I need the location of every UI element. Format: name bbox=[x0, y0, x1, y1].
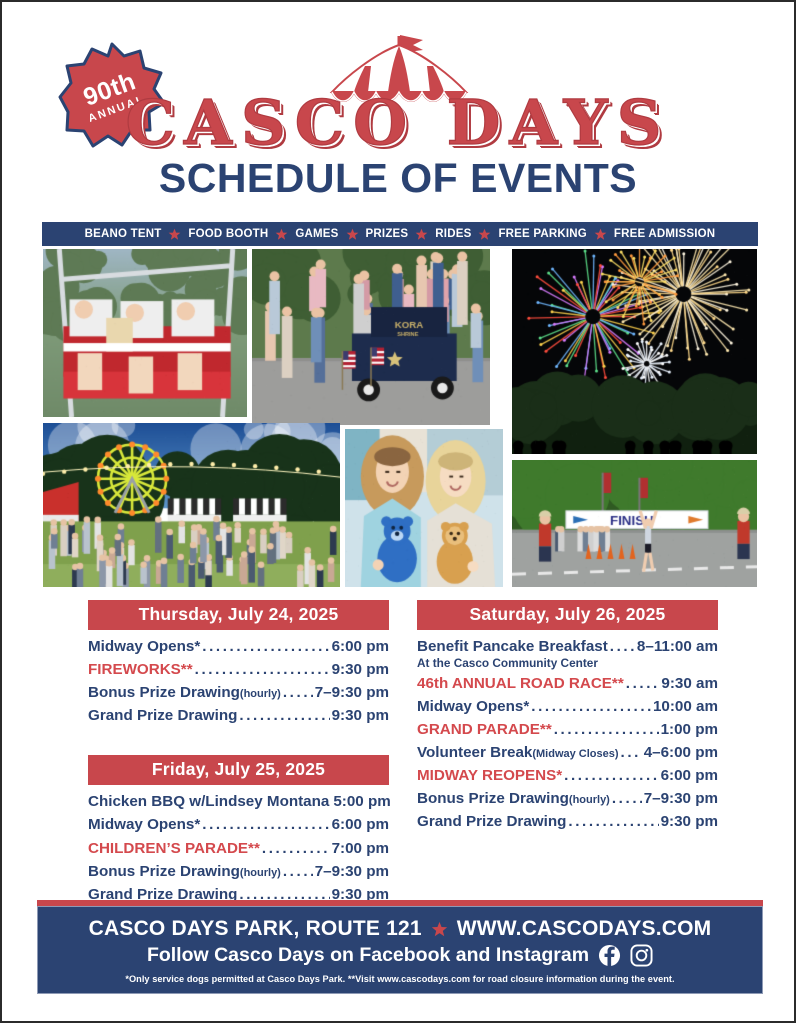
star-icon bbox=[168, 228, 181, 241]
event-name: 46th ANNUAL ROAD RACE** bbox=[417, 672, 624, 695]
photo-collage bbox=[43, 249, 757, 587]
event-name: Grand Prize Drawing bbox=[417, 810, 566, 833]
schedule-column-left: Thursday, July 24, 2025 Midway Opens* ..… bbox=[88, 600, 389, 906]
feature-rides: RIDES bbox=[435, 228, 471, 240]
event-row: Volunteer Break (Midway Closes) ........… bbox=[417, 741, 718, 764]
feature-games: GAMES bbox=[295, 228, 338, 240]
leader-dots: ........................................… bbox=[568, 810, 658, 833]
event-time: 6:00 pm bbox=[332, 635, 389, 658]
instagram-icon[interactable] bbox=[630, 944, 653, 967]
title-block: CASCO DAYS SCHEDULE OF EVENTS bbox=[2, 94, 794, 202]
footer-location: CASCO DAYS PARK, ROUTE 121 bbox=[89, 917, 422, 941]
event-name: Bonus Prize Drawing bbox=[88, 860, 240, 883]
leader-dots: ........................................… bbox=[202, 635, 329, 658]
event-time: 10:00 am bbox=[653, 695, 718, 718]
event-list-friday: Chicken BBQ w/Lindsey Montana ..........… bbox=[88, 790, 389, 905]
event-time: 9:30 am bbox=[661, 672, 718, 695]
event-name: GRAND PARADE** bbox=[417, 718, 552, 741]
footer-footnote: *Only service dogs permitted at Casco Da… bbox=[38, 974, 762, 984]
feature-free-admission: FREE ADMISSION bbox=[614, 228, 715, 240]
feature-free-parking: FREE PARKING bbox=[498, 228, 586, 240]
event-row: Chicken BBQ w/Lindsey Montana ..........… bbox=[88, 790, 389, 813]
event-time: 9:30 pm bbox=[661, 810, 718, 833]
leader-dots: ........................................… bbox=[195, 658, 330, 681]
event-name: Chicken BBQ w/Lindsey Montana bbox=[88, 790, 329, 813]
day-block-saturday: Saturday, July 26, 2025 Benefit Pancake … bbox=[417, 600, 718, 833]
event-name: CHILDREN’S PARADE** bbox=[88, 837, 260, 860]
event-time: 7–9:30 pm bbox=[644, 787, 718, 810]
photo-swing-ride-family bbox=[43, 249, 247, 417]
leader-dots: ........................................… bbox=[262, 837, 330, 860]
event-note: (hourly) bbox=[240, 865, 281, 882]
event-name: FIREWORKS** bbox=[88, 658, 193, 681]
footer-location-line: CASCO DAYS PARK, ROUTE 121 WWW.CASCODAYS… bbox=[38, 917, 762, 941]
event-row: Midway Opens* ..........................… bbox=[88, 635, 389, 658]
facebook-icon[interactable] bbox=[598, 944, 621, 967]
event-note: (Midway Closes) bbox=[532, 746, 618, 763]
photo-parade-kora-car bbox=[252, 249, 490, 425]
leader-dots: ........................................… bbox=[531, 695, 651, 718]
event-row: 46th ANNUAL ROAD RACE** ................… bbox=[417, 672, 718, 695]
day-block-friday: Friday, July 25, 2025 Chicken BBQ w/Lind… bbox=[88, 755, 389, 905]
feature-strip: BEANO TENTFOOD BOOTHGAMESPRIZESRIDESFREE… bbox=[42, 222, 758, 246]
photo-prize-stuffed-animals bbox=[345, 429, 503, 587]
poster-header: 90th ANNUAL CASCO DAYS SCHEDULE OF EVENT… bbox=[2, 2, 794, 214]
poster-title: CASCO DAYS bbox=[126, 94, 671, 153]
day-header-friday: Friday, July 25, 2025 bbox=[88, 755, 389, 785]
event-row: Midway Opens* ..........................… bbox=[88, 813, 389, 836]
event-row: Benefit Pancake Breakfast ..............… bbox=[417, 635, 718, 658]
photo-road-race-finish bbox=[512, 460, 757, 587]
leader-dots: ........................................… bbox=[239, 704, 329, 727]
schedule-section: Thursday, July 24, 2025 Midway Opens* ..… bbox=[88, 600, 718, 906]
feature-prizes: PRIZES bbox=[366, 228, 409, 240]
event-note: (hourly) bbox=[240, 686, 281, 703]
event-row: MIDWAY REOPENS* ........................… bbox=[417, 764, 718, 787]
event-time: 4–6:00 pm bbox=[644, 741, 718, 764]
star-icon bbox=[346, 228, 359, 241]
poster-subtitle: SCHEDULE OF EVENTS bbox=[2, 155, 794, 202]
footer-website[interactable]: WWW.CASCODAYS.COM bbox=[457, 917, 712, 941]
event-row: Bonus Prize Drawing (hourly) ...........… bbox=[88, 860, 389, 883]
schedule-column-right: Saturday, July 26, 2025 Benefit Pancake … bbox=[417, 600, 718, 906]
star-icon bbox=[594, 228, 607, 241]
event-time: 7:00 pm bbox=[332, 837, 389, 860]
event-row: Bonus Prize Drawing (hourly) ...........… bbox=[88, 681, 389, 704]
event-time: 9:30 pm bbox=[332, 658, 389, 681]
event-row: Bonus Prize Drawing (hourly) ...........… bbox=[417, 787, 718, 810]
leader-dots: ........................................… bbox=[610, 635, 635, 658]
event-time: 5:00 pm bbox=[333, 790, 390, 813]
event-row: FIREWORKS** ............................… bbox=[88, 658, 389, 681]
event-time: 7–9:30 pm bbox=[315, 681, 389, 704]
leader-dots: ........................................… bbox=[202, 813, 329, 836]
event-time: 8–11:00 am bbox=[637, 635, 718, 658]
event-subline: At the Casco Community Center bbox=[417, 656, 718, 671]
event-row: Grand Prize Drawing ....................… bbox=[88, 704, 389, 727]
event-name: Grand Prize Drawing bbox=[88, 704, 237, 727]
event-row: Midway Opens* ..........................… bbox=[417, 695, 718, 718]
event-name: Benefit Pancake Breakfast bbox=[417, 635, 608, 658]
star-icon bbox=[415, 228, 428, 241]
day-header-thursday: Thursday, July 24, 2025 bbox=[88, 600, 389, 630]
event-row: CHILDREN’S PARADE** ....................… bbox=[88, 837, 389, 860]
event-row: Grand Prize Drawing ....................… bbox=[417, 810, 718, 833]
event-time: 9:30 pm bbox=[332, 704, 389, 727]
event-list-thursday: Midway Opens* ..........................… bbox=[88, 635, 389, 727]
star-icon bbox=[275, 228, 288, 241]
event-name: Midway Opens* bbox=[88, 635, 200, 658]
poster-footer: CASCO DAYS PARK, ROUTE 121 WWW.CASCODAYS… bbox=[37, 906, 763, 994]
footer-social-line: Follow Casco Days on Facebook and Instag… bbox=[38, 944, 762, 967]
star-icon bbox=[431, 921, 448, 938]
event-list-saturday: Benefit Pancake Breakfast ..............… bbox=[417, 635, 718, 833]
feature-beano-tent: BEANO TENT bbox=[85, 228, 162, 240]
leader-dots: ........................................… bbox=[283, 681, 313, 704]
event-time: 6:00 pm bbox=[661, 764, 718, 787]
leader-dots: ........................................… bbox=[621, 741, 642, 764]
star-icon bbox=[478, 228, 491, 241]
feature-food-booth: FOOD BOOTH bbox=[188, 228, 268, 240]
leader-dots: ........................................… bbox=[283, 860, 313, 883]
photo-fireworks bbox=[512, 249, 757, 454]
leader-dots: ........................................… bbox=[554, 718, 659, 741]
leader-dots: ........................................… bbox=[626, 672, 660, 695]
event-time: 6:00 pm bbox=[332, 813, 389, 836]
event-name: Bonus Prize Drawing bbox=[417, 787, 569, 810]
day-block-thursday: Thursday, July 24, 2025 Midway Opens* ..… bbox=[88, 600, 389, 727]
event-time: 1:00 pm bbox=[661, 718, 718, 741]
event-name: Bonus Prize Drawing bbox=[88, 681, 240, 704]
event-row: GRAND PARADE** .........................… bbox=[417, 718, 718, 741]
leader-dots: ........................................… bbox=[612, 787, 642, 810]
leader-dots: ........................................… bbox=[564, 764, 658, 787]
poster-page: 90th ANNUAL CASCO DAYS SCHEDULE OF EVENT… bbox=[0, 0, 796, 1023]
event-name: Volunteer Break bbox=[417, 741, 532, 764]
event-name: MIDWAY REOPENS* bbox=[417, 764, 562, 787]
event-name: Midway Opens* bbox=[88, 813, 200, 836]
event-time: 7–9:30 pm bbox=[315, 860, 389, 883]
day-header-saturday: Saturday, July 26, 2025 bbox=[417, 600, 718, 630]
photo-midway-ferris-wheel bbox=[43, 423, 340, 587]
event-note: (hourly) bbox=[569, 792, 610, 809]
footer-social-text: Follow Casco Days on Facebook and Instag… bbox=[147, 944, 589, 967]
event-name: Midway Opens* bbox=[417, 695, 529, 718]
